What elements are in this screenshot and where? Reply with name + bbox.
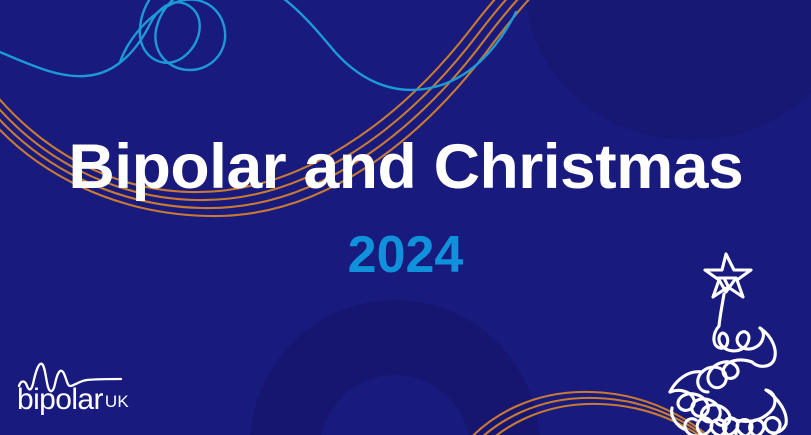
slide-canvas: Bipolar and Christmas 2024 bipolarUK: [0, 0, 811, 435]
logo-word-uk: UK: [105, 392, 129, 411]
logo-word-bipolar: bipolar: [17, 383, 103, 416]
page-title: Bipolar and Christmas: [68, 136, 743, 199]
title-block: Bipolar and Christmas 2024: [0, 0, 811, 435]
logo-wordmark: bipolarUK: [17, 385, 129, 415]
page-year: 2024: [348, 229, 464, 281]
